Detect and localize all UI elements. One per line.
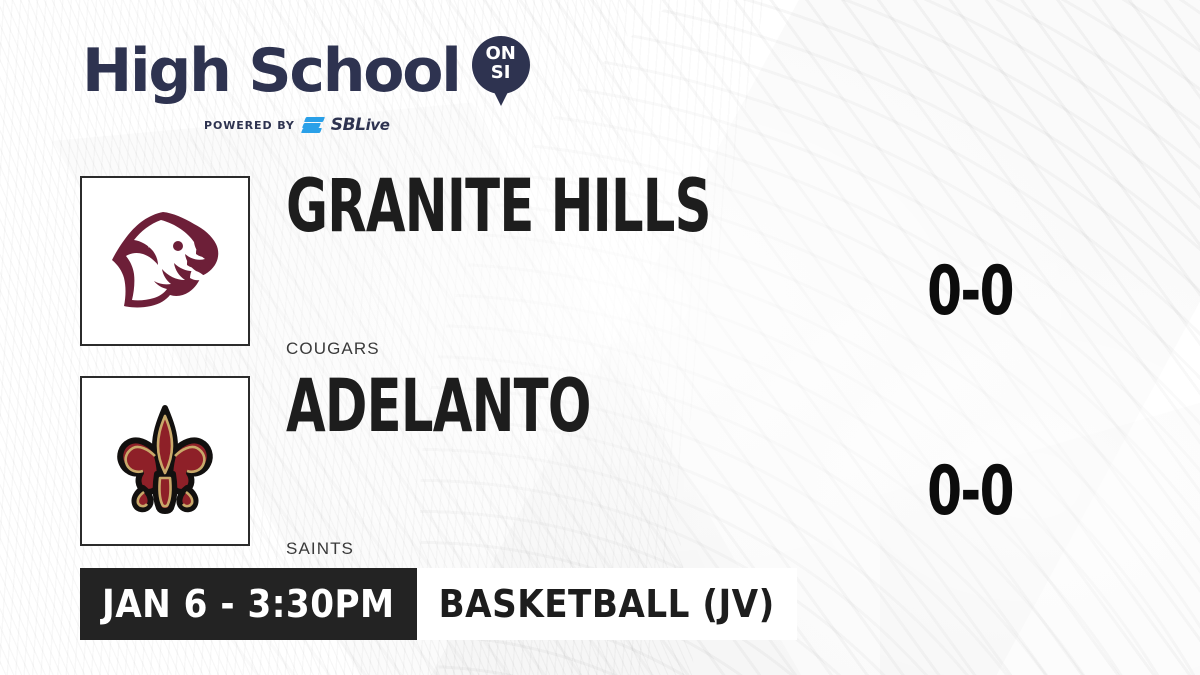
sblive-bolt-icon: [302, 117, 324, 133]
cougar-head-icon: [106, 208, 224, 314]
brand-title: High School: [82, 43, 460, 101]
game-datetime: JAN 6 - 3:30PM: [80, 568, 417, 640]
away-team-mascot: COUGARS: [286, 339, 380, 359]
game-info-bar: JAN 6 - 3:30PM BASKETBALL (JV): [80, 568, 797, 640]
powered-by-row: POWERED BY SBLive: [82, 115, 530, 135]
powered-by-label: POWERED BY: [204, 119, 295, 132]
pin-label-line1: ON: [472, 44, 530, 63]
brand-title-row: High School ON SI: [82, 36, 530, 108]
brand-header: High School ON SI POWERED BY SBLive: [82, 36, 530, 135]
sblive-wordmark-lower: ive: [366, 116, 390, 134]
away-team-logo-box: [80, 176, 250, 346]
away-team-name: GRANITE HILLS: [286, 170, 711, 243]
home-team-logo-box: [80, 376, 250, 546]
home-team-record: 0-0: [888, 458, 1052, 526]
pin-label-line2: SI: [472, 63, 530, 82]
matchup-graphic: High School ON SI POWERED BY SBLive: [0, 0, 1200, 675]
onsi-pin-icon: ON SI: [472, 36, 530, 108]
sblive-wordmark-upper: SBL: [331, 115, 366, 135]
home-team-mascot: SAINTS: [286, 539, 354, 559]
away-team-record: 0-0: [888, 258, 1052, 326]
sblive-wordmark: SBLive: [331, 115, 390, 135]
game-sport-level: BASKETBALL (JV): [417, 568, 797, 640]
pin-label: ON SI: [472, 44, 530, 82]
home-team-name: ADELANTO: [286, 370, 591, 443]
fleur-de-lis-icon: [113, 402, 217, 520]
